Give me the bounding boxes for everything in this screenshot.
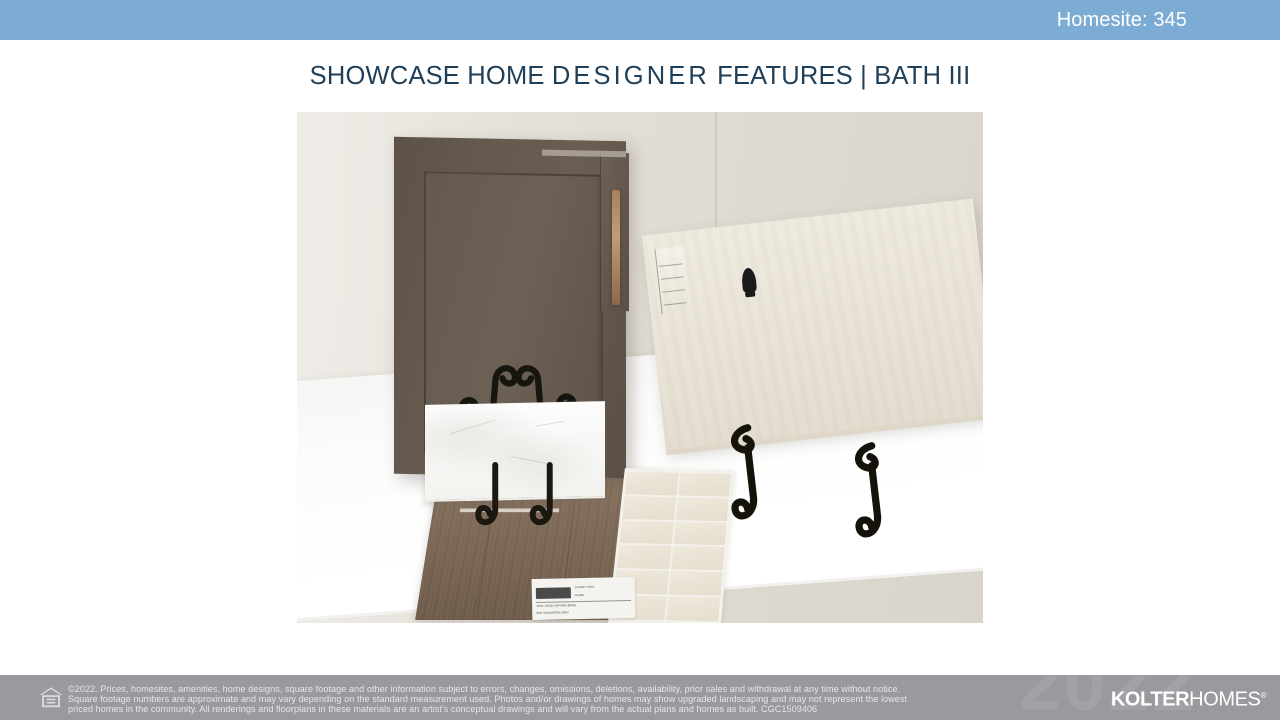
homesite-label: Homesite: 345: [1057, 9, 1280, 32]
showcase-photo: LUXURY VINYL PLANK VIVID | RIGID NATURAL…: [297, 112, 983, 623]
disclaimer-line-3: priced homes in the community. All rende…: [68, 704, 1083, 714]
mosaic-tile: [675, 497, 728, 521]
quartz-vein: [536, 421, 565, 427]
mosaic-tile: [671, 546, 725, 570]
tile-slab-sample: [642, 198, 983, 451]
logo-text-homes: HOMES: [1189, 689, 1260, 711]
page-title-part-2: DESIGNER: [552, 62, 710, 90]
quartz-vein: [450, 419, 495, 434]
footer-bar: 2022 ©2022. Prices, homesites, amenities…: [0, 675, 1280, 720]
flooring-brand-logo: [535, 587, 570, 598]
kolter-homes-logo: KOLTERHOMES®: [1111, 686, 1266, 710]
top-header-bar: Homesite: 345: [0, 0, 1280, 40]
cabinet-top-edge: [543, 149, 626, 157]
legal-disclaimer: ©2022. Prices, homesites, amenities, hom…: [68, 684, 1083, 715]
page-title-part-1: SHOWCASE HOME: [310, 62, 552, 90]
flooring-spec-card: LUXURY VINYL PLANK VIVID | RIGID NATURAL…: [531, 577, 635, 620]
iron-easel-stand-slab-right: [836, 444, 918, 562]
logo-trademark-mark: ®: [1261, 691, 1267, 700]
spec-card-line-1: LUXURY VINYL: [575, 586, 595, 589]
mosaic-tile: [617, 545, 671, 569]
mosaic-tile: [619, 521, 673, 545]
page-title-part-3: FEATURES | BATH III: [710, 62, 970, 90]
mosaic-tile: [673, 522, 727, 546]
page-title: SHOWCASE HOME DESIGNER FEATURES | BATH I…: [0, 62, 1280, 91]
logo-text-kolter: KOLTER: [1111, 689, 1189, 711]
spec-card-divider: [536, 600, 631, 603]
mosaic-tile: [625, 472, 678, 495]
spec-card-line-4: 5237 UNCHARTED GREY: [536, 611, 569, 615]
spec-card-line-2: PLANK: [575, 594, 584, 597]
equal-housing-opportunity-icon: [38, 684, 64, 710]
mosaic-tile: [666, 597, 721, 622]
mosaic-tile: [622, 496, 676, 520]
disclaimer-line-2: Square footage numbers are approximate a…: [68, 694, 1083, 704]
cabinet-bar-pull-hardware: [612, 189, 620, 304]
mosaic-tile: [668, 571, 722, 595]
quartz-vein: [511, 457, 546, 465]
slab-label-sticker: [655, 246, 692, 314]
disclaimer-line-1: ©2022. Prices, homesites, amenities, hom…: [68, 684, 1083, 694]
mosaic-tile: [678, 473, 731, 496]
iron-easel-stand-lower: [465, 465, 588, 542]
spec-card-line-3: VIVID | RIGID NATURAL BEVEL: [536, 604, 576, 608]
